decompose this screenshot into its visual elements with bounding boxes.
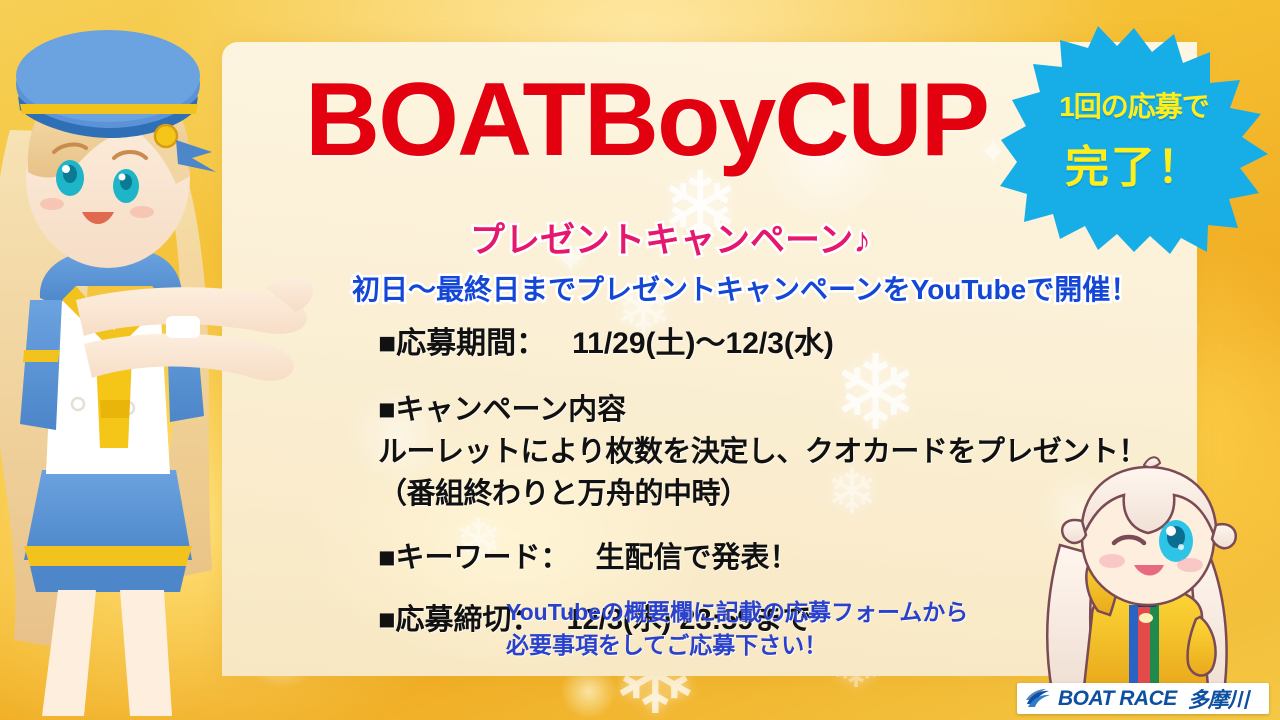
logo-brand-text: BOAT RACE [1058,687,1177,711]
application-note: YouTubeの概要欄に記載の応募フォームから 必要事項をしてご応募下さい！ [506,596,968,663]
status-badge: 1回の応募で 完了！ [1000,26,1268,254]
detail-row-content-note: （番組終わりと万舟的中時） [378,470,1118,512]
details-block: ■応募期間：11/29(土)〜12/3(水) ■キャンペーン内容 ルーレットによ… [378,318,1118,638]
detail-value: 生配信で発表！ [596,542,799,574]
chibi-character-illustration [1030,455,1270,700]
main-character-illustration [0,0,325,720]
detail-label: ■キーワード： [378,542,570,574]
brand-logo: BOAT RACE 多摩川 [1017,683,1269,714]
detail-label: ■応募期間： [378,327,546,360]
badge-line1: 1回の応募で [1059,85,1209,125]
application-note-line2: 必要事項をしてご応募下さい！ [506,629,968,662]
detail-row-keyword: ■キーワード：生配信で発表！ [378,534,1118,576]
detail-row-period: ■応募期間：11/29(土)〜12/3(水) [378,318,1118,362]
detail-row-content-body: ルーレットにより枚数を決定し、クオカードをプレゼント！ [378,428,1118,470]
logo-venue-text: 多摩川 [1188,684,1248,714]
detail-row-content-heading: ■キャンペーン内容 [378,386,1118,428]
application-note-line1: YouTubeの概要欄に記載の応募フォームから [506,596,968,629]
badge-line2: 完了！ [1065,131,1203,195]
poster-canvas: ❄ ❄ ❄ ❄ ❄ ❄ ❄ ❄ ❄ ✦ ✦ BOATBoyCUP プレゼントキャ… [0,0,1280,720]
subtitle-announcement: 初日〜最終日までプレゼントキャンペーンをYouTubeで開催！ [352,268,1138,308]
badge-text: 1回の応募で 完了！ [1000,26,1268,254]
wave-swirl-icon [1025,688,1051,710]
subtitle-campaign: プレゼントキャンペーン♪ [470,212,871,263]
page-title: BOATBoyCUP [305,66,1015,175]
detail-value: 11/29(土)〜12/3(水) [572,327,834,360]
